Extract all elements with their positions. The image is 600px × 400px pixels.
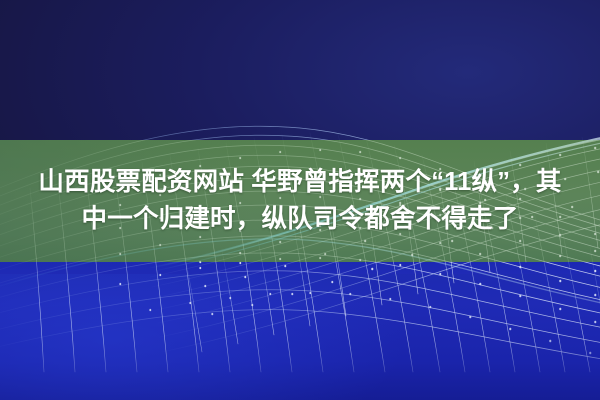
background-bottom-blue bbox=[0, 262, 600, 400]
headline-text: 山西股票配资网站 华野曾指挥两个“11纵”，其 中一个归建时，纵队司令都舍不得走… bbox=[0, 140, 600, 262]
headline-line-1: 山西股票配资网站 华野曾指挥两个“11纵”，其 bbox=[34, 168, 565, 198]
image-canvas: 山西股票配资网站 华野曾指挥两个“11纵”，其 中一个归建时，纵队司令都舍不得走… bbox=[0, 0, 600, 400]
headline-line-2: 中一个归建时，纵队司令都舍不得走了 bbox=[82, 205, 519, 235]
